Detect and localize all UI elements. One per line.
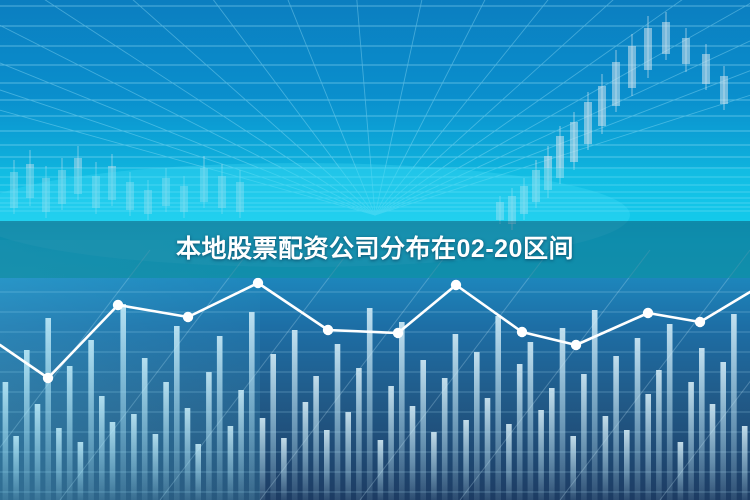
bar [313,376,319,500]
data-point-marker [393,328,403,338]
bar [303,402,309,500]
candle-body [662,22,670,54]
bar [645,394,651,500]
bar [570,436,576,500]
bar [528,342,534,500]
candle-body [570,122,578,162]
bar [260,418,266,500]
bar [367,308,373,500]
bar [624,430,630,500]
bar [410,406,416,500]
candle-body [612,62,620,106]
bar [603,416,609,500]
candle-body [584,102,592,144]
bar [453,334,459,500]
candle-body [598,86,606,126]
bar [388,386,394,500]
data-point-marker [43,373,53,383]
bar [549,388,555,500]
data-point-marker [517,327,527,337]
background-artwork [0,0,750,500]
data-point-marker [571,340,581,350]
bar [431,432,437,500]
candle-body [644,28,652,70]
bar [635,338,641,500]
bar [581,374,587,500]
data-point-marker [113,300,123,310]
bar [720,362,726,500]
bar [699,348,705,500]
bar [560,328,566,500]
data-point-marker [183,312,193,322]
stock-banner-image: 本地股票配资公司分布在02-20区间 [0,0,750,500]
bar [292,330,298,500]
bar [356,368,362,500]
candle-body [682,38,690,64]
data-point-marker [643,308,653,318]
bar [324,430,330,500]
bar [742,426,748,500]
bar [335,344,341,500]
bar [442,378,448,500]
candle-body [720,76,728,104]
bar [688,382,694,500]
bar [399,322,405,500]
bar [270,354,276,500]
candle-body [702,54,710,84]
bar [420,360,426,500]
bar [538,410,544,500]
data-point-marker [323,325,333,335]
data-point-marker [451,280,461,290]
data-point-marker [253,278,263,288]
data-point-marker [695,317,705,327]
bar [485,398,491,500]
bar [345,412,351,500]
bar [656,370,662,500]
candle-body [628,46,636,88]
